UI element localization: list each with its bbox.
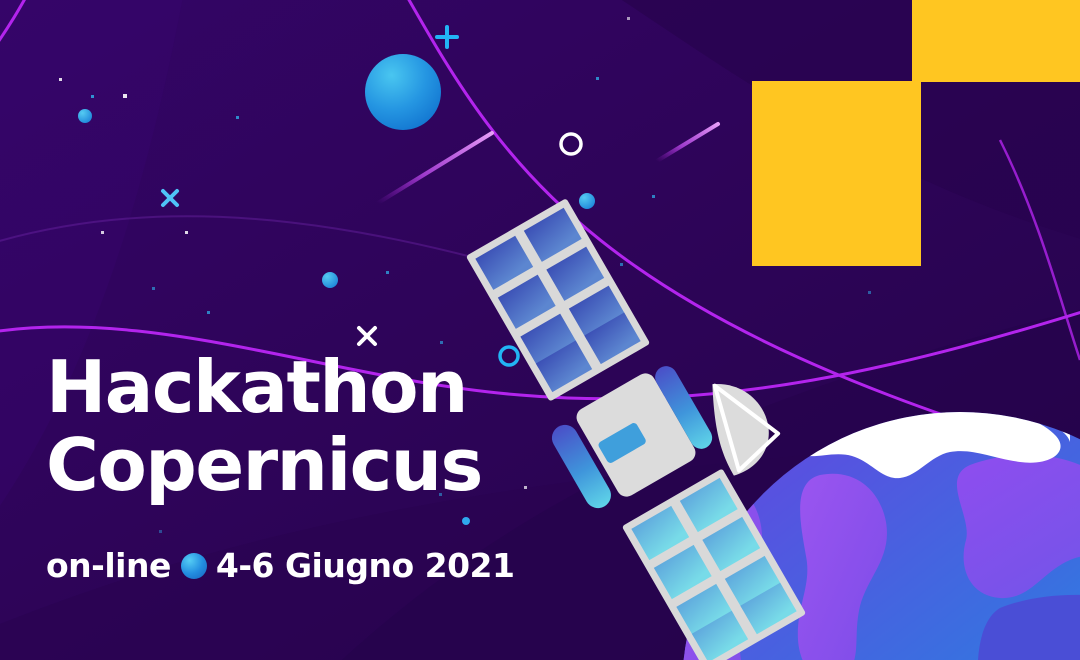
title-line-1: Hackathon xyxy=(46,348,482,426)
blue-dot-lower-left xyxy=(322,272,338,288)
blue-planet-large xyxy=(365,54,441,130)
page-title: Hackathon Copernicus xyxy=(46,348,482,504)
subtitle-mode: on-line xyxy=(46,545,171,587)
title-line-2: Copernicus xyxy=(46,426,482,504)
event-subtitle: on-line 4-6 Giugno 2021 xyxy=(46,545,514,587)
yellow-square-top-right xyxy=(912,0,1080,82)
blue-dot-small xyxy=(462,517,470,525)
blue-dot-left xyxy=(78,109,92,123)
blue-globe-icon xyxy=(180,552,208,580)
hackathon-banner: Hackathon Copernicus on-line 4-6 Giugno … xyxy=(0,0,1080,660)
blue-dot-mid xyxy=(579,193,595,209)
yellow-square-second xyxy=(752,81,921,266)
subtitle-dates: 4-6 Giugno 2021 xyxy=(216,545,515,587)
